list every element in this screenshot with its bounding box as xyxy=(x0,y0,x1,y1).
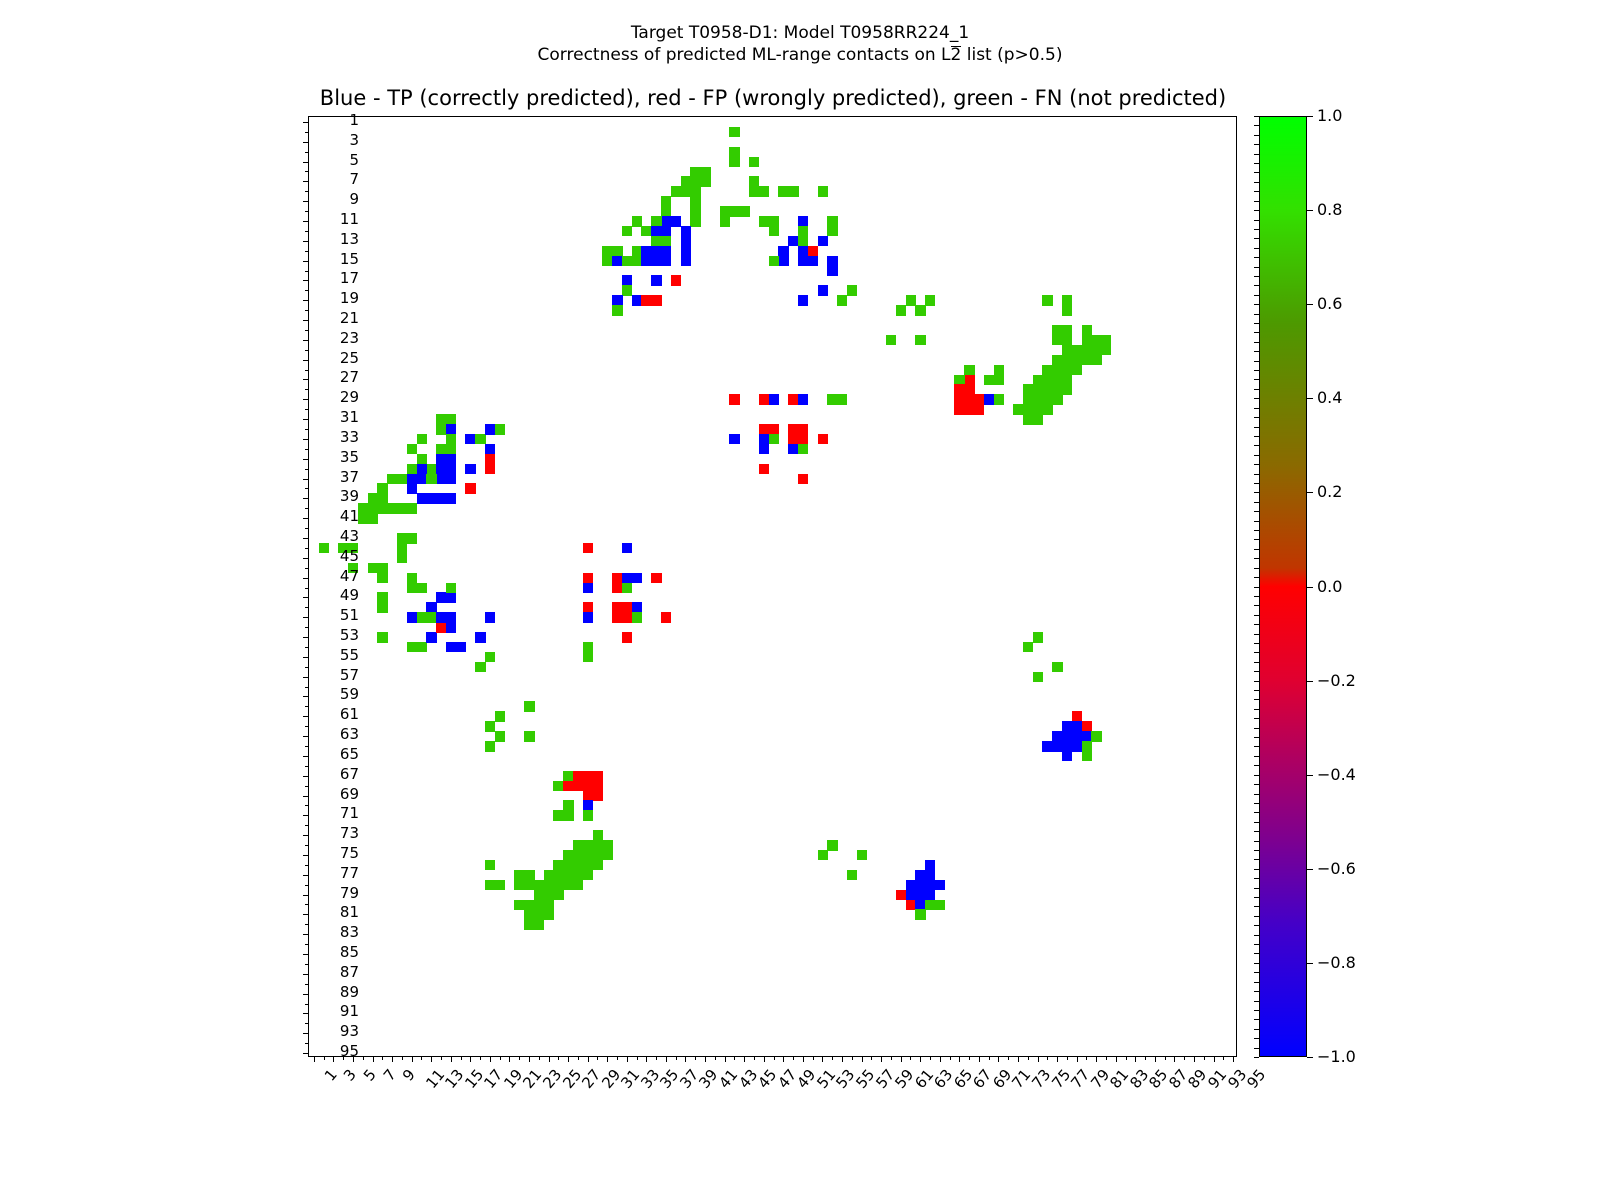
y-tick xyxy=(305,310,309,311)
colorbar-minor-tick xyxy=(1254,728,1259,729)
x-tick xyxy=(822,1056,823,1062)
y-tick xyxy=(303,162,309,163)
contact-cell xyxy=(1062,355,1072,366)
y-tick-label: 25 xyxy=(340,351,359,366)
colorbar-tick xyxy=(1307,210,1313,211)
contact-cell xyxy=(1062,751,1072,762)
x-tick xyxy=(607,1056,608,1062)
contact-cell xyxy=(994,394,1004,405)
colorbar-minor-tick xyxy=(1254,794,1259,795)
contact-cell xyxy=(534,919,544,930)
colorbar-minor-tick xyxy=(1254,869,1259,870)
contact-cell xyxy=(377,632,387,643)
y-tick xyxy=(305,825,309,826)
y-tick xyxy=(305,865,309,866)
y-tick xyxy=(303,934,309,935)
y-tick-label: 15 xyxy=(340,252,359,267)
y-tick xyxy=(305,330,309,331)
contact-cell xyxy=(1033,632,1043,643)
contact-cell xyxy=(935,900,945,911)
y-tick-label: 59 xyxy=(340,687,359,702)
colorbar-minor-tick xyxy=(1254,248,1259,249)
y-tick xyxy=(305,964,309,965)
colorbar-minor-tick xyxy=(1254,182,1259,183)
colorbar-minor-tick xyxy=(1254,568,1259,569)
x-tick xyxy=(1135,1056,1136,1062)
y-tick xyxy=(305,904,309,905)
y-tick xyxy=(305,805,309,806)
colorbar-minor-tick xyxy=(1254,662,1259,663)
colorbar-minor-tick xyxy=(1254,652,1259,653)
x-tick xyxy=(1077,1056,1078,1062)
colorbar-minor-tick xyxy=(1254,201,1259,202)
contact-cell xyxy=(769,394,779,405)
contact-cell xyxy=(837,295,847,306)
y-tick-label: 89 xyxy=(340,985,359,1000)
contact-cell xyxy=(818,285,828,296)
contact-cell xyxy=(573,880,583,891)
contact-cell xyxy=(485,741,495,752)
contact-cell xyxy=(651,275,661,286)
x-tick xyxy=(656,1056,657,1060)
y-tick xyxy=(305,528,309,529)
contact-cell xyxy=(446,434,456,445)
contact-cell xyxy=(1062,305,1072,316)
x-tick xyxy=(480,1056,481,1060)
y-tick xyxy=(303,974,309,975)
x-tick xyxy=(940,1056,941,1062)
colorbar-tick-label: 0.8 xyxy=(1317,202,1342,218)
y-tick-label: 39 xyxy=(340,489,359,504)
y-tick xyxy=(303,914,309,915)
x-tick xyxy=(558,1056,559,1060)
y-tick xyxy=(303,835,309,836)
contact-cell xyxy=(368,513,378,524)
y-tick xyxy=(303,657,309,658)
y-tick xyxy=(303,379,309,380)
contact-cell xyxy=(446,493,456,504)
y-tick-label: 45 xyxy=(340,549,359,564)
colorbar-minor-tick xyxy=(1254,916,1259,917)
y-tick-label: 17 xyxy=(340,271,359,286)
contact-cell xyxy=(544,880,554,891)
y-tick-label: 43 xyxy=(340,529,359,544)
y-tick xyxy=(305,667,309,668)
x-tick xyxy=(871,1056,872,1060)
x-tick xyxy=(998,1056,999,1062)
contact-cell xyxy=(622,583,632,594)
y-tick-label: 3 xyxy=(349,133,359,148)
y-tick-label: 11 xyxy=(340,212,359,227)
colorbar-minor-tick xyxy=(1254,455,1259,456)
colorbar-minor-tick xyxy=(1254,474,1259,475)
y-tick xyxy=(303,518,309,519)
colorbar-minor-tick xyxy=(1254,953,1259,954)
contact-cell xyxy=(593,771,603,782)
colorbar-minor-tick xyxy=(1254,1001,1259,1002)
y-tick xyxy=(303,578,309,579)
contact-cell xyxy=(915,305,925,316)
colorbar-tick xyxy=(1307,587,1313,588)
colorbar-minor-tick xyxy=(1254,972,1259,973)
y-tick xyxy=(305,786,309,787)
y-tick xyxy=(305,568,309,569)
contact-cell xyxy=(622,226,632,237)
y-tick-label: 23 xyxy=(340,331,359,346)
x-tick xyxy=(813,1056,814,1060)
colorbar-tick-label: −0.4 xyxy=(1317,767,1356,783)
y-tick xyxy=(305,271,309,272)
colorbar-minor-tick xyxy=(1254,492,1259,493)
contact-cell xyxy=(915,880,925,891)
colorbar-minor-tick xyxy=(1254,831,1259,832)
y-tick xyxy=(303,300,309,301)
colorbar-tick-label: 0.6 xyxy=(1317,296,1342,312)
y-tick-label: 65 xyxy=(340,747,359,762)
contact-cell xyxy=(593,791,603,802)
contact-cell xyxy=(485,652,495,663)
y-tick xyxy=(305,488,309,489)
colorbar-minor-tick xyxy=(1254,615,1259,616)
colorbar-minor-tick xyxy=(1254,1010,1259,1011)
y-tick xyxy=(303,796,309,797)
x-tick xyxy=(754,1056,755,1060)
contact-cell xyxy=(1082,751,1092,762)
contact-cell xyxy=(319,543,329,554)
colorbar-minor-tick xyxy=(1254,737,1259,738)
y-tick xyxy=(305,924,309,925)
x-tick xyxy=(470,1056,471,1062)
contact-cell xyxy=(729,394,739,405)
x-tick xyxy=(1155,1056,1156,1062)
colorbar-minor-tick xyxy=(1254,634,1259,635)
colorbar-minor-tick xyxy=(1254,342,1259,343)
y-tick xyxy=(303,736,309,737)
x-tick xyxy=(930,1056,931,1060)
y-tick xyxy=(303,895,309,896)
contact-cell xyxy=(798,256,808,267)
colorbar-minor-tick xyxy=(1254,295,1259,296)
contact-cell xyxy=(690,216,700,227)
colorbar-minor-tick xyxy=(1254,304,1259,305)
y-tick-label: 85 xyxy=(340,945,359,960)
x-tick xyxy=(1204,1056,1205,1060)
x-tick xyxy=(774,1056,775,1060)
colorbar-gradient xyxy=(1259,116,1307,1057)
colorbar-minor-tick xyxy=(1254,530,1259,531)
contact-cell xyxy=(700,167,710,178)
y-tick-label: 57 xyxy=(340,668,359,683)
x-tick xyxy=(1008,1056,1009,1060)
colorbar-tick xyxy=(1307,963,1313,964)
contact-cell xyxy=(954,404,964,415)
colorbar-minor-tick xyxy=(1254,982,1259,983)
contact-cell xyxy=(583,870,593,881)
x-tick xyxy=(783,1056,784,1062)
y-tick xyxy=(305,132,309,133)
y-tick-label: 19 xyxy=(340,291,359,306)
contact-cell xyxy=(495,731,505,742)
x-tick xyxy=(950,1056,951,1060)
contact-map-plot[interactable] xyxy=(308,116,1237,1057)
contact-cell xyxy=(798,474,808,485)
colorbar-minor-tick xyxy=(1254,925,1259,926)
contact-cell xyxy=(818,236,828,247)
contact-cell xyxy=(475,632,485,643)
y-tick xyxy=(305,548,309,549)
figure-title-line2-pre: Correctness of predicted ML-range contac… xyxy=(538,45,951,65)
x-tick xyxy=(862,1056,863,1062)
colorbar-minor-tick xyxy=(1254,822,1259,823)
contact-cell xyxy=(495,424,505,435)
x-tick-label: 1 xyxy=(322,1067,340,1084)
colorbar-tick xyxy=(1307,492,1313,493)
y-tick xyxy=(305,350,309,351)
y-tick xyxy=(305,984,309,985)
y-tick-label: 83 xyxy=(340,925,359,940)
x-tick xyxy=(637,1056,638,1060)
colorbar-minor-tick xyxy=(1254,935,1259,936)
x-tick xyxy=(451,1056,452,1062)
colorbar-tick-label: −0.2 xyxy=(1317,673,1356,689)
colorbar-minor-tick xyxy=(1254,944,1259,945)
contact-cell xyxy=(446,474,456,485)
contact-cell xyxy=(622,543,632,554)
y-tick xyxy=(303,241,309,242)
contact-cell xyxy=(622,256,632,267)
y-tick-label: 87 xyxy=(340,965,359,980)
contact-cell xyxy=(583,583,593,594)
contact-cell xyxy=(446,622,456,633)
contact-cell xyxy=(417,583,427,594)
contact-cell xyxy=(632,573,642,584)
colorbar-minor-tick xyxy=(1254,1038,1259,1039)
x-tick xyxy=(1145,1056,1146,1060)
x-tick xyxy=(920,1056,921,1062)
x-tick xyxy=(539,1056,540,1060)
colorbar-minor-tick xyxy=(1254,521,1259,522)
colorbar-tick xyxy=(1307,775,1313,776)
contact-cell xyxy=(681,226,691,237)
y-tick xyxy=(303,201,309,202)
x-tick xyxy=(832,1056,833,1060)
x-tick xyxy=(695,1056,696,1060)
colorbar-minor-tick xyxy=(1254,332,1259,333)
contact-cell xyxy=(759,464,769,475)
y-tick xyxy=(303,459,309,460)
colorbar-minor-tick xyxy=(1254,408,1259,409)
colorbar-tick-label: 0.0 xyxy=(1317,579,1342,595)
x-tick xyxy=(842,1056,843,1062)
colorbar-minor-tick xyxy=(1254,991,1259,992)
contact-cell xyxy=(446,612,456,623)
y-tick xyxy=(303,1033,309,1034)
contact-cell xyxy=(886,335,896,346)
y-tick-label: 77 xyxy=(340,866,359,881)
y-tick-label: 31 xyxy=(340,410,359,425)
x-tick xyxy=(627,1056,628,1062)
y-tick xyxy=(305,766,309,767)
contact-cell xyxy=(1023,642,1033,653)
y-tick xyxy=(303,439,309,440)
colorbar-minor-tick xyxy=(1254,191,1259,192)
contact-cell xyxy=(994,375,1004,386)
colorbar-minor-tick xyxy=(1254,671,1259,672)
y-tick xyxy=(305,469,309,470)
y-tick xyxy=(305,171,309,172)
colorbar-tick xyxy=(1307,116,1313,117)
contact-cell xyxy=(769,434,779,445)
x-tick xyxy=(549,1056,550,1062)
contact-grid[interactable] xyxy=(309,117,1236,1056)
colorbar-tick-label: 1.0 xyxy=(1317,108,1342,124)
x-tick xyxy=(901,1056,902,1062)
x-tick xyxy=(588,1056,589,1062)
x-tick xyxy=(852,1056,853,1060)
contact-cell xyxy=(602,850,612,861)
x-tick xyxy=(617,1056,618,1060)
x-tick xyxy=(1057,1056,1058,1062)
contact-cell xyxy=(798,394,808,405)
colorbar-minor-tick xyxy=(1254,549,1259,550)
y-tick-label: 53 xyxy=(340,628,359,643)
y-tick xyxy=(305,251,309,252)
colorbar-minor-tick xyxy=(1254,220,1259,221)
y-tick-label: 69 xyxy=(340,787,359,802)
x-tick xyxy=(685,1056,686,1062)
y-tick xyxy=(303,637,309,638)
x-tick xyxy=(363,1056,364,1060)
contact-cell xyxy=(651,295,661,306)
y-tick-label: 91 xyxy=(340,1004,359,1019)
x-tick xyxy=(568,1056,569,1062)
colorbar-minor-tick xyxy=(1254,784,1259,785)
contact-cell xyxy=(456,642,466,653)
colorbar-tick-label: 0.4 xyxy=(1317,390,1342,406)
contact-cell xyxy=(1072,365,1082,376)
contact-cell xyxy=(818,186,828,197)
colorbar-minor-tick xyxy=(1254,285,1259,286)
y-tick xyxy=(303,994,309,995)
contact-cell xyxy=(387,474,397,485)
contact-cell xyxy=(583,543,593,554)
contact-cell xyxy=(729,127,739,138)
contact-cell xyxy=(1072,721,1082,732)
colorbar-minor-tick xyxy=(1254,445,1259,446)
contact-cell xyxy=(485,612,495,623)
y-tick-label: 93 xyxy=(340,1024,359,1039)
x-tick xyxy=(441,1056,442,1060)
y-tick xyxy=(305,845,309,846)
contact-cell xyxy=(906,890,916,901)
x-tick xyxy=(392,1056,393,1062)
contact-cell xyxy=(974,404,984,415)
figure-title: Target T0958-D1: Model T0958RR224_1 Corr… xyxy=(0,22,1600,66)
contact-cell xyxy=(700,176,710,187)
colorbar-minor-tick xyxy=(1254,351,1259,352)
colorbar-minor-tick xyxy=(1254,1057,1259,1058)
y-tick xyxy=(305,449,309,450)
colorbar-minor-tick xyxy=(1254,125,1259,126)
contact-cell xyxy=(465,464,475,475)
y-tick-label: 29 xyxy=(340,390,359,405)
colorbar-minor-tick xyxy=(1254,709,1259,710)
colorbar-tick-label: −0.6 xyxy=(1317,861,1356,877)
colorbar-minor-tick xyxy=(1254,323,1259,324)
contact-cell xyxy=(465,483,475,494)
x-tick xyxy=(676,1056,677,1060)
x-tick xyxy=(529,1056,530,1062)
colorbar-minor-tick xyxy=(1254,427,1259,428)
colorbar-minor-tick xyxy=(1254,379,1259,380)
contact-cell xyxy=(563,800,573,811)
colorbar-minor-tick xyxy=(1254,370,1259,371)
y-tick xyxy=(303,815,309,816)
y-tick-label: 73 xyxy=(340,826,359,841)
contact-cell xyxy=(397,553,407,564)
x-tick xyxy=(578,1056,579,1060)
contact-cell xyxy=(377,602,387,613)
contact-cell xyxy=(837,394,847,405)
colorbar-minor-tick xyxy=(1254,596,1259,597)
x-tick xyxy=(1038,1056,1039,1062)
y-tick xyxy=(305,647,309,648)
x-tick xyxy=(490,1056,491,1062)
contact-cell xyxy=(729,157,739,168)
colorbar-minor-tick xyxy=(1254,398,1259,399)
y-tick-label: 95 xyxy=(340,1044,359,1059)
y-tick-label: 47 xyxy=(340,569,359,584)
x-tick xyxy=(1086,1056,1087,1060)
colorbar[interactable]: 1.00.80.60.40.20.0−0.2−0.4−0.6−0.8−1.0 xyxy=(1259,116,1307,1057)
x-tick xyxy=(1184,1056,1185,1060)
colorbar-minor-tick xyxy=(1254,154,1259,155)
x-tick xyxy=(1096,1056,1097,1062)
y-tick xyxy=(305,1043,309,1044)
contact-cell xyxy=(417,493,427,504)
y-tick-label: 41 xyxy=(340,509,359,524)
contact-cell xyxy=(984,375,994,386)
contact-cell xyxy=(847,870,857,881)
contact-cell xyxy=(1052,662,1062,673)
contact-cell xyxy=(720,216,730,227)
contact-cell xyxy=(524,701,534,712)
colorbar-tick xyxy=(1307,398,1313,399)
contact-cell xyxy=(446,592,456,603)
y-tick xyxy=(303,221,309,222)
y-tick xyxy=(303,479,309,480)
contact-cell xyxy=(661,236,671,247)
contact-cell xyxy=(925,860,935,871)
colorbar-tick-label: −1.0 xyxy=(1317,1049,1356,1065)
colorbar-minor-tick xyxy=(1254,1048,1259,1049)
colorbar-minor-tick xyxy=(1254,878,1259,879)
x-tick xyxy=(1067,1056,1068,1060)
colorbar-minor-tick xyxy=(1254,417,1259,418)
colorbar-minor-tick xyxy=(1254,643,1259,644)
y-tick xyxy=(303,1053,309,1054)
y-tick-label: 9 xyxy=(349,192,359,207)
contact-cell xyxy=(769,256,779,267)
y-tick xyxy=(305,290,309,291)
colorbar-minor-tick xyxy=(1254,464,1259,465)
contact-cell xyxy=(915,909,925,920)
x-tick xyxy=(1047,1056,1048,1060)
contact-cell xyxy=(827,840,837,851)
y-tick xyxy=(305,409,309,410)
y-tick xyxy=(303,855,309,856)
x-tick xyxy=(1028,1056,1029,1060)
